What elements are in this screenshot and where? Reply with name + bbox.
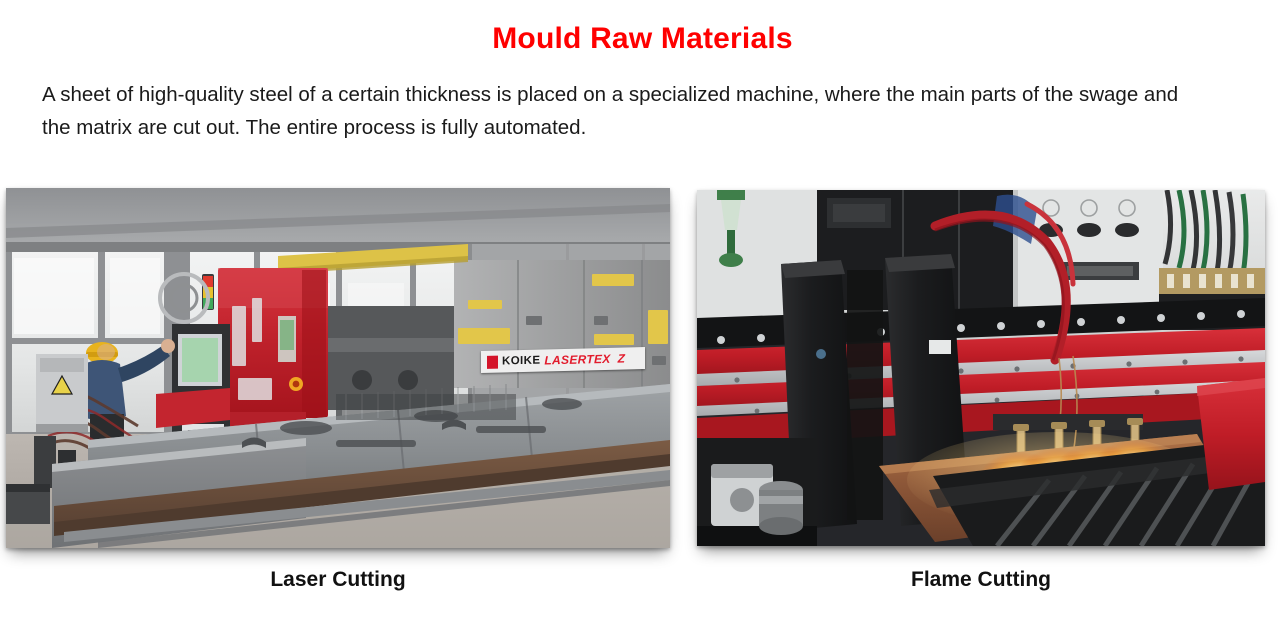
caption-laser-cutting: Laser Cutting <box>6 568 670 592</box>
brand-variant-label: Z <box>618 351 625 365</box>
flame-cutting-illustration <box>697 190 1265 546</box>
brand-maker-label: KOIKE <box>502 355 540 368</box>
slide-root: Mould Raw Materials A sheet of high-qual… <box>0 0 1285 619</box>
caption-flame-cutting: Flame Cutting <box>697 568 1265 592</box>
figure-flame-cutting: Flame Cutting <box>697 190 1265 546</box>
photo-laser-cutting: KOIKE LASERTEX Z <box>6 188 670 548</box>
description-text: A sheet of high-quality steel of a certa… <box>42 78 1202 144</box>
koike-brand-plate: KOIKE LASERTEX Z <box>481 347 645 373</box>
figure-laser-cutting: KOIKE LASERTEX Z Laser Cutting <box>6 188 670 548</box>
page-title: Mould Raw Materials <box>0 22 1285 56</box>
figure-gallery: KOIKE LASERTEX Z Laser Cutting <box>0 188 1285 608</box>
photo-flame-cutting <box>697 190 1265 546</box>
koike-logo-mark <box>487 355 498 368</box>
brand-model-label: LASERTEX <box>544 352 610 368</box>
